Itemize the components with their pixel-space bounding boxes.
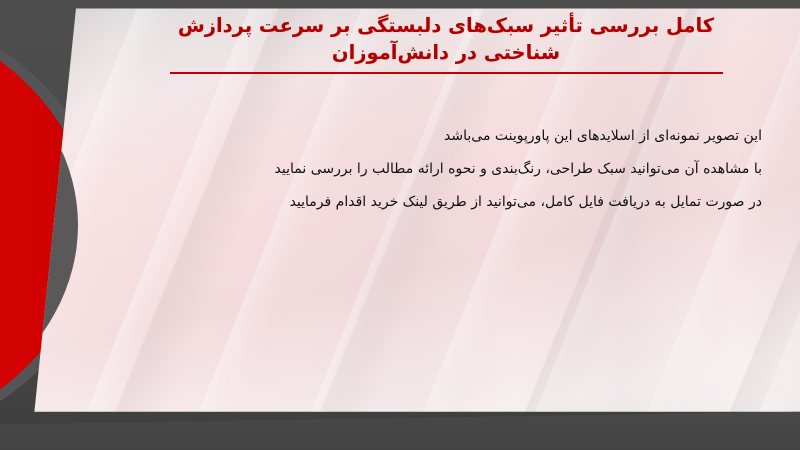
slide-title-line-2: شناختی در دانش‌آموزان [110, 39, 782, 66]
presentation-slide: کامل بررسی تأثیر سبک‌های دلبستگی بر سرعت… [0, 0, 800, 450]
slide-body-text: این تصویر نمونه‌ای از اسلایدهای این پاور… [102, 120, 762, 219]
title-underline-rule [170, 72, 723, 74]
slide-title: کامل بررسی تأثیر سبک‌های دلبستگی بر سرعت… [110, 12, 782, 74]
body-paragraph-1: این تصویر نمونه‌ای از اسلایدهای این پاور… [102, 120, 762, 153]
body-paragraph-2: با مشاهده آن می‌توانید سبک طراحی، رنگ‌بن… [102, 153, 762, 186]
body-paragraph-3: در صورت تمایل به دریافت فایل کامل، می‌تو… [102, 186, 762, 219]
slide-title-line-1: کامل بررسی تأثیر سبک‌های دلبستگی بر سرعت… [110, 12, 782, 39]
